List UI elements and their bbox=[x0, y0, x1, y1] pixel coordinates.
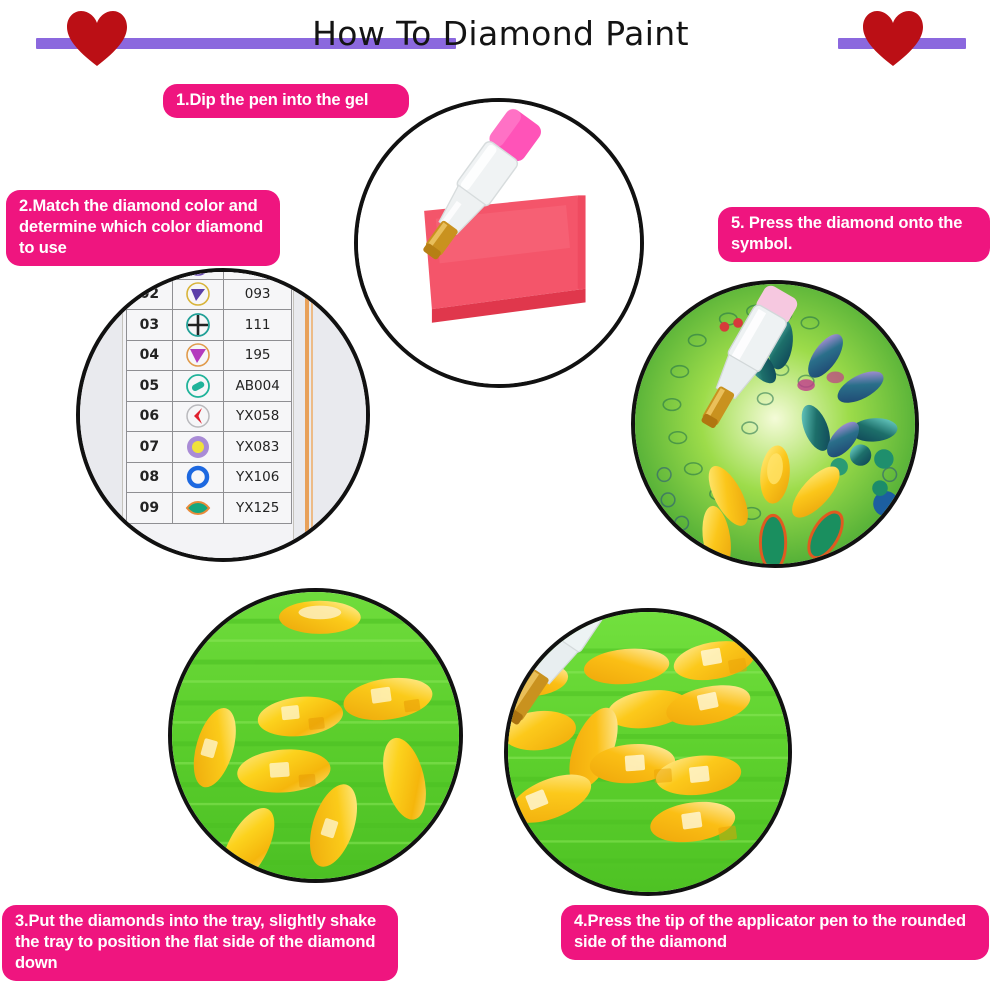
table-row: 03111 bbox=[127, 310, 292, 341]
page-title: How To Diamond Paint bbox=[0, 14, 1001, 53]
header-banner: How To Diamond Paint bbox=[0, 0, 1001, 78]
chart-row-code: YX106 bbox=[224, 462, 292, 493]
ring-circle-symbol bbox=[172, 462, 224, 493]
pill-capsule-symbol bbox=[172, 371, 224, 402]
chart-row-index: 05 bbox=[127, 371, 173, 402]
photo-color-code-chart: 0102602093031110419505AB00406YX05807YX08… bbox=[76, 268, 370, 562]
chart-orange-edge2 bbox=[311, 268, 313, 562]
photo-pen-dipping-in-gel bbox=[354, 98, 644, 388]
chevron-left-symbol bbox=[172, 401, 224, 432]
triangle-fan-symbol bbox=[172, 340, 224, 371]
chart-row-code: YX083 bbox=[224, 432, 292, 463]
chart-row-code: 026 bbox=[224, 268, 292, 279]
color-code-table: 0102602093031110419505AB00406YX05807YX08… bbox=[126, 268, 292, 524]
chart-row-code: YX125 bbox=[224, 493, 292, 524]
table-row: 06YX058 bbox=[127, 401, 292, 432]
chart-row-code: AB004 bbox=[224, 371, 292, 402]
leaf-eye-symbol bbox=[172, 493, 224, 524]
plus-cross-symbol bbox=[172, 310, 224, 341]
chart-row-index: 04 bbox=[127, 340, 173, 371]
donut-dot-symbol bbox=[172, 432, 224, 463]
chart-row-index: 01 bbox=[127, 268, 173, 279]
photo-diamonds-in-tray bbox=[168, 588, 463, 883]
eyes-circle-symbol bbox=[172, 268, 224, 279]
photo-pen-picking-diamond bbox=[504, 608, 792, 896]
step-5-label: 5. Press the diamond onto the symbol. bbox=[718, 207, 990, 262]
chart-row-index: 06 bbox=[127, 401, 173, 432]
table-row: 05AB004 bbox=[127, 371, 292, 402]
table-row: 04195 bbox=[127, 340, 292, 371]
table-row: 08YX106 bbox=[127, 462, 292, 493]
chart-row-index: 03 bbox=[127, 310, 173, 341]
table-row: 07YX083 bbox=[127, 432, 292, 463]
table-row: 02093 bbox=[127, 279, 292, 310]
chart-row-index: 09 bbox=[127, 493, 173, 524]
chart-orange-edge bbox=[305, 268, 309, 562]
triangle-flag-symbol bbox=[172, 279, 224, 310]
chart-row-index: 02 bbox=[127, 279, 173, 310]
chart-row-code: 195 bbox=[224, 340, 292, 371]
step-4-label: 4.Press the tip of the applicator pen to… bbox=[561, 905, 989, 960]
table-row: 09YX125 bbox=[127, 493, 292, 524]
chart-row-code: 111 bbox=[224, 310, 292, 341]
chart-sheet-background: 0102602093031110419505AB00406YX05807YX08… bbox=[78, 268, 370, 562]
table-row: 01026 bbox=[127, 268, 292, 279]
chart-row-code: YX058 bbox=[224, 401, 292, 432]
step-2-label: 2.Match the diamond color and determine … bbox=[6, 190, 280, 266]
chart-row-index: 07 bbox=[127, 432, 173, 463]
how-to-diamond-paint-infographic: How To Diamond Paint 1.Dip the pen into … bbox=[0, 0, 1001, 1001]
chart-row-code: 093 bbox=[224, 279, 292, 310]
chart-row-index: 08 bbox=[127, 462, 173, 493]
photo-press-diamond-on-canvas bbox=[631, 280, 919, 568]
step-3-label: 3.Put the diamonds into the tray, slight… bbox=[2, 905, 398, 981]
